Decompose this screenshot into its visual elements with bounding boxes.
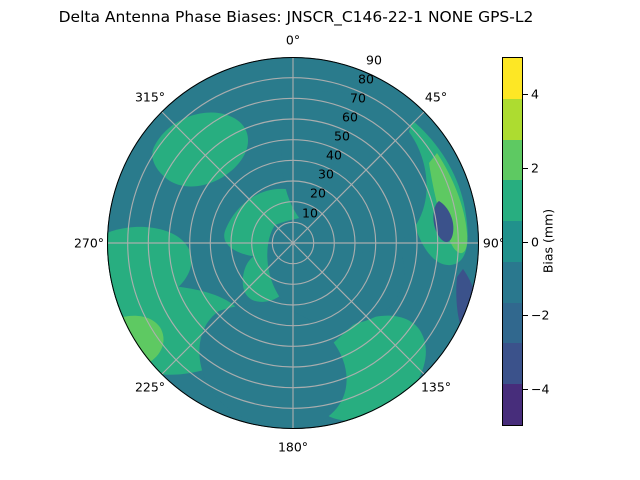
colorbar-tick-0 bbox=[523, 242, 528, 243]
colorbar-axis-label: Bias (mm) bbox=[541, 209, 556, 273]
theta-tick-label-45: 45° bbox=[425, 90, 447, 105]
polar-axes[interactable] bbox=[107, 57, 479, 429]
colorbar-band bbox=[503, 180, 522, 221]
colorbar-band bbox=[503, 221, 522, 262]
r-tick-label-90: 90 bbox=[366, 53, 382, 68]
theta-tick-label-135: 135° bbox=[421, 380, 451, 395]
r-tick-label-70: 70 bbox=[350, 91, 366, 106]
r-tick-label-60: 60 bbox=[342, 110, 358, 125]
theta-tick-label-0: 0° bbox=[286, 33, 300, 48]
colorbar-tick-2 bbox=[523, 168, 528, 169]
theta-tick-label-315: 315° bbox=[135, 90, 165, 105]
polar-contour-layer bbox=[107, 57, 479, 429]
colorbar-band bbox=[503, 99, 522, 140]
theta-tick-label-180: 180° bbox=[278, 440, 308, 455]
colorbar-band bbox=[503, 384, 522, 425]
r-tick-label-40: 40 bbox=[326, 148, 342, 163]
colorbar-band bbox=[503, 140, 522, 181]
colorbar-tick-4 bbox=[523, 94, 528, 95]
polar-grid bbox=[107, 57, 479, 429]
r-tick-label-20: 20 bbox=[310, 186, 326, 201]
r-tick-label-80: 80 bbox=[358, 72, 374, 87]
colorbar-band bbox=[503, 262, 522, 303]
colorbar-ticklabel-minus2: −2 bbox=[531, 308, 549, 323]
colorbar-ticklabel-0: 0 bbox=[531, 234, 539, 249]
colorbar-ticklabel-minus4: −4 bbox=[531, 382, 549, 397]
r-tick-label-30: 30 bbox=[318, 167, 334, 182]
polar-data-region bbox=[107, 57, 479, 429]
colorbar-ticklabel-2: 2 bbox=[531, 160, 539, 175]
matplotlib-figure: Delta Antenna Phase Biases: JNSCR_C146-2… bbox=[0, 0, 640, 480]
colorbar-tick-m2 bbox=[523, 315, 528, 316]
theta-tick-label-270: 270° bbox=[74, 236, 104, 251]
colorbar-band bbox=[503, 303, 522, 344]
colorbar-axes[interactable]: 4 2 0 −2 −4 bbox=[502, 57, 523, 426]
colorbar-band bbox=[503, 343, 522, 384]
theta-tick-label-225: 225° bbox=[135, 380, 165, 395]
page-title: Delta Antenna Phase Biases: JNSCR_C146-2… bbox=[0, 8, 592, 26]
contour-patch-blue bbox=[456, 269, 479, 338]
r-tick-label-50: 50 bbox=[334, 129, 350, 144]
colorbar-band bbox=[503, 58, 522, 99]
colorbar-gradient bbox=[502, 57, 523, 426]
colorbar-band bbox=[503, 425, 522, 426]
colorbar-ticklabel-4: 4 bbox=[531, 86, 539, 101]
r-tick-label-10: 10 bbox=[302, 206, 318, 221]
colorbar-tick-m4 bbox=[523, 389, 528, 390]
